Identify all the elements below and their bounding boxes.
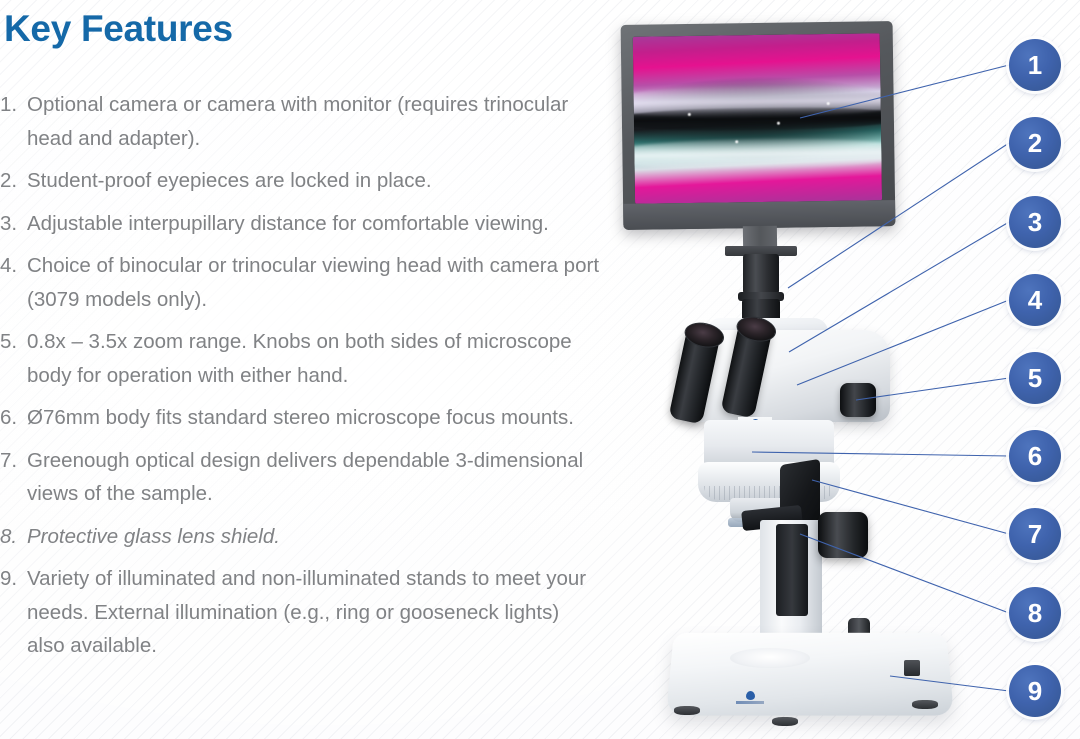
list-item-number: 9. <box>0 562 27 596</box>
callout-badge-7[interactable]: 7 <box>1009 508 1061 560</box>
focus-rack <box>776 524 808 616</box>
monitor-screen <box>633 33 882 203</box>
list-item-number: 5. <box>0 325 27 359</box>
page-title: Key Features <box>4 8 233 50</box>
lcd-monitor <box>621 21 896 230</box>
list-item-text: Adjustable interpupillary distance for c… <box>27 207 600 241</box>
list-item-text: Greenough optical design delivers depend… <box>27 444 600 511</box>
brand-wordmark <box>736 701 764 704</box>
list-item-number: 7. <box>0 444 27 478</box>
callout-badge-4[interactable]: 4 <box>1009 274 1061 326</box>
list-item: 5. 0.8x – 3.5x zoom range. Knobs on both… <box>0 325 600 392</box>
power-port <box>904 660 920 676</box>
list-item-number: 6. <box>0 401 27 435</box>
base-foot <box>772 717 798 726</box>
list-item-number: 3. <box>0 207 27 241</box>
callout-badge-3[interactable]: 3 <box>1009 196 1061 248</box>
list-item-text: Optional camera or camera with monitor (… <box>27 88 600 155</box>
list-item: 9. Variety of illuminated and non-illumi… <box>0 562 600 663</box>
base-foot <box>912 700 938 709</box>
list-item-text: Variety of illuminated and non-illuminat… <box>27 562 600 663</box>
list-item: 1. Optional camera or camera with monito… <box>0 88 600 155</box>
camera-adapter-tube <box>743 254 779 294</box>
callout-badge-6[interactable]: 6 <box>1009 430 1061 482</box>
callout-badge-1[interactable]: 1 <box>1009 39 1061 91</box>
callout-badge-5[interactable]: 5 <box>1009 352 1061 404</box>
list-item-text: Choice of binocular or trinocular viewin… <box>27 249 600 316</box>
agate-dark-band <box>633 106 882 132</box>
stage-plate <box>730 648 810 668</box>
list-item-text: Ø76mm body fits standard stereo microsco… <box>27 401 600 435</box>
list-item-text: Student-proof eyepieces are locked in pl… <box>27 164 600 198</box>
base-foot <box>674 706 700 715</box>
zoom-knob <box>840 383 876 417</box>
focus-knob <box>818 512 868 558</box>
list-item: 6. Ø76mm body fits standard stereo micro… <box>0 401 600 435</box>
callout-badge-8[interactable]: 8 <box>1009 587 1061 639</box>
callout-badge-9[interactable]: 9 <box>1009 665 1061 717</box>
list-item-number: 1. <box>0 88 27 122</box>
list-item: 4. Choice of binocular or trinocular vie… <box>0 249 600 316</box>
list-item: 2. Student-proof eyepieces are locked in… <box>0 164 600 198</box>
feature-list: 1. Optional camera or camera with monito… <box>0 88 600 672</box>
list-item-number: 4. <box>0 249 27 283</box>
list-item-text: Protective glass lens shield. <box>27 520 600 554</box>
list-item: 8. Protective glass lens shield. <box>0 520 600 554</box>
monitor-bezel <box>633 33 882 203</box>
diamond-logo-icon <box>746 691 755 700</box>
list-item-number: 2. <box>0 164 27 198</box>
base-brand-logo <box>730 688 770 706</box>
product-photo <box>612 0 1012 739</box>
list-item-number: 8. <box>0 520 27 554</box>
list-item: 3. Adjustable interpupillary distance fo… <box>0 207 600 241</box>
list-item: 7. Greenough optical design delivers dep… <box>0 444 600 511</box>
list-item-text: 0.8x – 3.5x zoom range. Knobs on both si… <box>27 325 600 392</box>
callout-badge-2[interactable]: 2 <box>1009 117 1061 169</box>
features-panel: Key Features 1. Optional camera or camer… <box>0 0 612 739</box>
agate-crystal-band-bottom <box>633 136 882 170</box>
